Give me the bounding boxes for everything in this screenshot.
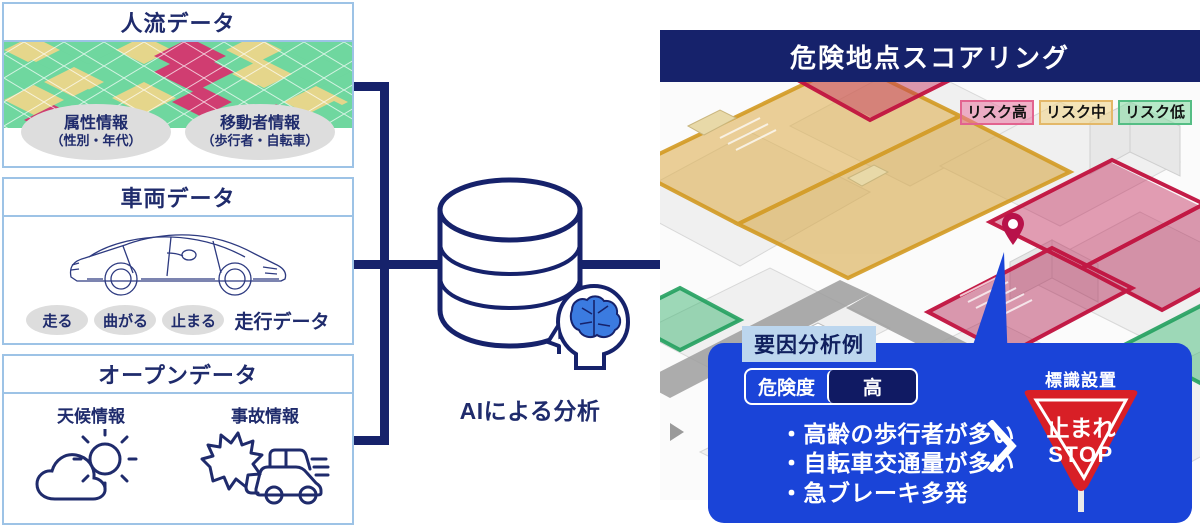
sign-text-en: STOP: [1048, 442, 1114, 467]
car-crash-icon: [200, 429, 330, 507]
panel-header: 人流データ: [4, 4, 352, 42]
legend-item-high: リスク高: [960, 100, 1034, 125]
source-panel-vehicle: 車両データ: [2, 177, 354, 345]
play-icon[interactable]: [670, 423, 684, 441]
car-line-drawing-icon: [4, 221, 352, 301]
pill-stop: 止まる: [162, 305, 224, 335]
factor-list: 高齢の歩行者が多い 自転車交通量が多い 急ブレーキ多発: [740, 420, 1015, 508]
panel-body: 走る 曲がる 止まる 走行データ: [4, 217, 352, 343]
sign-text-jp: 止まれ: [1047, 415, 1116, 441]
pill-run: 走る: [26, 305, 88, 335]
card-title: 危険地点スコアリング: [790, 38, 1070, 75]
people-flow-pill-row: 属性情報 （性別・年代） 移動者情報 （歩行者・自転車）: [4, 104, 352, 160]
ai-brain-head-icon: [546, 280, 634, 370]
panel-title: 車両データ: [120, 181, 235, 213]
risk-level-value: 高: [827, 370, 916, 403]
attribute-info-pill: 属性情報 （性別・年代）: [21, 104, 171, 160]
legend-item-medium: リスク中: [1039, 100, 1113, 125]
pill-label: 走る: [42, 310, 72, 331]
panel-body: 天候情報 事故情報: [4, 394, 352, 523]
panel-title: オープンデータ: [98, 358, 258, 390]
driving-data-label: 走行データ: [234, 307, 329, 334]
mover-info-pill: 移動者情報 （歩行者・自転車）: [185, 104, 335, 160]
list-item: 急ブレーキ多発: [780, 479, 1015, 508]
pill-line-1: 移動者情報: [220, 115, 300, 133]
pill-line-2: （歩行者・自転車）: [201, 134, 318, 149]
pill-label: 曲がる: [103, 310, 148, 331]
legend-item-low: リスク低: [1118, 100, 1192, 125]
infographic-root: 人流データ: [0, 0, 1200, 529]
panel-header: 車両データ: [4, 179, 352, 217]
risk-level-chip: 危険度 高: [744, 368, 918, 405]
risk-level-key: 危険度: [746, 370, 827, 403]
item-label: 天候情報: [57, 402, 125, 427]
panel-title: 人流データ: [120, 6, 235, 38]
driving-pill-row: 走る 曲がる 止まる 走行データ: [4, 305, 352, 335]
pill-turn: 曲がる: [94, 305, 156, 335]
callout-tab: 要因分析例: [742, 326, 876, 362]
callout-tab-label: 要因分析例: [754, 334, 864, 357]
pill-line-2: （性別・年代）: [50, 134, 141, 149]
source-panel-people-flow: 人流データ: [2, 2, 354, 168]
list-item: 自転車交通量が多い: [780, 449, 1015, 478]
item-label: 事故情報: [231, 402, 299, 427]
risk-legend: リスク高 リスク中 リスク低: [960, 100, 1192, 125]
ai-analysis-label: AIによる分析: [430, 392, 630, 426]
pill-line-1: 属性情報: [64, 115, 128, 133]
list-item: 高齢の歩行者が多い: [780, 420, 1015, 449]
card-header: 危険地点スコアリング: [660, 30, 1200, 82]
panel-header: オープンデータ: [4, 356, 352, 394]
panel-body: 属性情報 （性別・年代） 移動者情報 （歩行者・自転車）: [4, 42, 352, 166]
stop-sign-icon: 止まれ STOP: [1014, 386, 1148, 512]
sun-cloud-icon: [31, 429, 151, 507]
pill-label: 止まる: [171, 310, 216, 331]
open-data-item-weather: 天候情報: [4, 394, 178, 523]
source-panel-open-data: オープンデータ 天候情報 事故情報: [2, 354, 354, 525]
open-data-item-accident: 事故情報: [178, 394, 352, 523]
